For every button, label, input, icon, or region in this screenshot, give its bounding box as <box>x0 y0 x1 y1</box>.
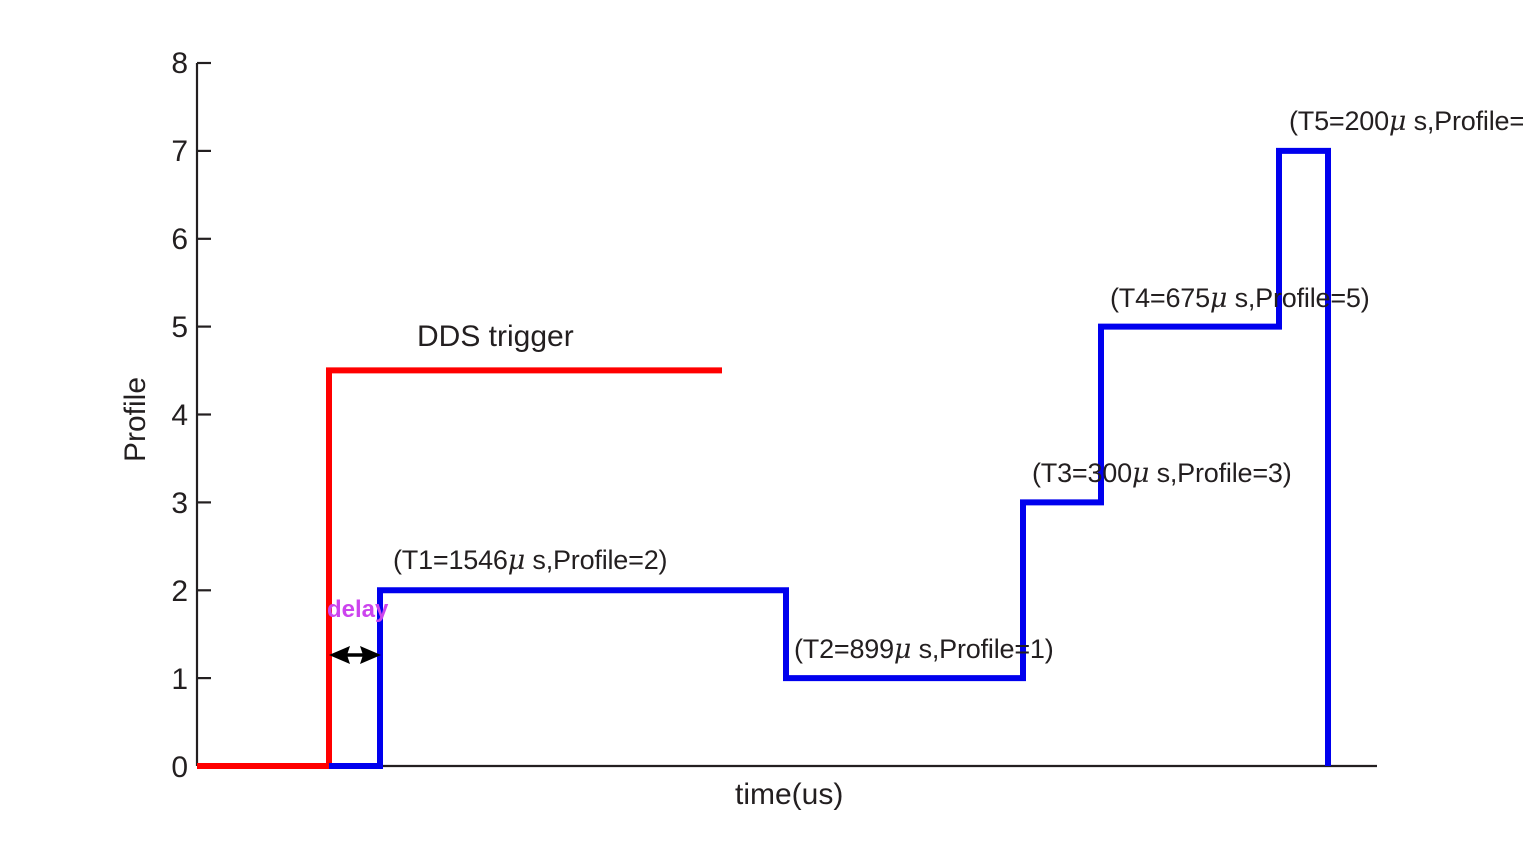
annotation-t4: (T4=675μ s,Profile=5) <box>1110 283 1370 314</box>
y-tick-label-7: 7 <box>148 135 188 169</box>
annotation-t1-mu: μ <box>508 545 525 576</box>
y-axis-ticks <box>197 63 211 766</box>
annotation-t2-suffix: s,Profile=1) <box>911 634 1053 664</box>
annotation-t2: (T2=899μ s,Profile=1) <box>794 634 1054 665</box>
y-tick-label-8: 8 <box>148 47 188 81</box>
delay-label: delay <box>327 596 388 624</box>
y-tick-label-0: 0 <box>148 751 188 785</box>
annotation-t2-mu: μ <box>894 634 911 665</box>
y-tick-label-5: 5 <box>148 311 188 345</box>
y-tick-label-6: 6 <box>148 223 188 257</box>
annotation-t5: (T5=200μ s,Profile=7) <box>1289 106 1523 137</box>
annotation-t3: (T3=300μ s,Profile=3) <box>1032 458 1292 489</box>
annotation-t3-prefix: (T3=300 <box>1032 458 1132 488</box>
annotation-t1-prefix: (T1=1546 <box>393 545 508 575</box>
y-tick-label-3: 3 <box>148 487 188 521</box>
dds-trigger-label: DDS trigger <box>417 320 574 354</box>
y-tick-label-4: 4 <box>148 399 188 433</box>
annotation-t1: (T1=1546μ s,Profile=2) <box>393 545 667 576</box>
y-tick-label-1: 1 <box>148 663 188 697</box>
annotation-t5-suffix: s,Profile=7) <box>1406 106 1523 136</box>
y-tick-label-2: 2 <box>148 575 188 609</box>
annotation-t1-suffix: s,Profile=2) <box>525 545 667 575</box>
annotation-t5-mu: μ <box>1389 106 1406 137</box>
annotation-t5-prefix: (T5=200 <box>1289 106 1389 136</box>
annotation-t4-mu: μ <box>1210 283 1227 314</box>
annotation-t2-prefix: (T2=899 <box>794 634 894 664</box>
annotation-t3-suffix: s,Profile=3) <box>1149 458 1291 488</box>
annotation-t4-prefix: (T4=675 <box>1110 283 1210 313</box>
y-axis-title: Profile <box>119 377 153 462</box>
annotation-t3-mu: μ <box>1132 458 1149 489</box>
profile-timing-chart: 0 1 2 3 4 5 6 7 8 Profile time(us) DDS t… <box>0 0 1523 860</box>
delay-arrow <box>329 646 381 664</box>
annotation-t4-suffix: s,Profile=5) <box>1227 283 1369 313</box>
x-axis-title: time(us) <box>735 778 843 812</box>
